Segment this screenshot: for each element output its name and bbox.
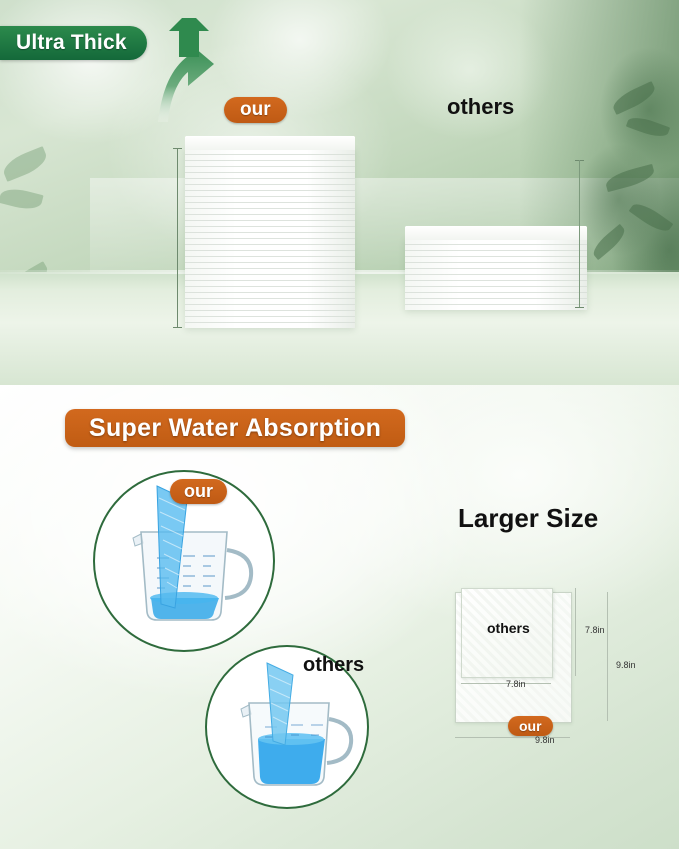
dimension-others-height: 7.8in: [585, 625, 605, 635]
section-title-label: Super Water Absorption: [89, 414, 381, 443]
our-label: our: [184, 481, 213, 502]
leaf-icon: [589, 224, 629, 260]
dimension-our-width: 9.8in: [535, 735, 555, 745]
others-size-label: others: [487, 620, 530, 636]
our-label: our: [240, 99, 271, 121]
towel-stack-our: [185, 136, 355, 328]
stack-top-face: [185, 136, 355, 150]
super-water-absorption-banner: Super Water Absorption: [65, 409, 405, 447]
dimension-our-height: 9.8in: [616, 660, 636, 670]
leaf-icon: [629, 199, 674, 237]
ultra-thick-panel: Ultra Thick our others: [0, 0, 679, 385]
stack-top-face: [405, 226, 587, 240]
up-arrow-icon: [136, 18, 226, 128]
our-badge-absorption: our: [170, 479, 227, 504]
dimension-line-our-height: [607, 592, 608, 721]
height-measure-our: [173, 148, 182, 328]
others-label-top: others: [447, 94, 514, 120]
ultra-thick-badge: Ultra Thick: [0, 26, 147, 60]
our-badge-top: our: [224, 97, 287, 123]
stack-layers: [405, 238, 587, 310]
leaf-icon: [0, 146, 50, 182]
product-infographic: Ultra Thick our others Super Water Absor…: [0, 0, 679, 849]
leaf-icon: [610, 81, 658, 115]
dimension-others-width: 7.8in: [506, 679, 526, 689]
leaf-icon: [626, 113, 670, 141]
towel-stack-others: [405, 226, 587, 310]
our-label: our: [519, 718, 542, 734]
dimension-line-others-height: [575, 588, 576, 676]
leaf-icon: [604, 164, 656, 192]
leaf-icon: [0, 185, 44, 213]
ultra-thick-label: Ultra Thick: [16, 31, 127, 55]
stack-layers: [185, 148, 355, 328]
others-label-absorption: others: [303, 654, 364, 677]
our-size-badge: our: [508, 716, 553, 736]
larger-size-title: Larger Size: [458, 503, 598, 534]
height-measure-others: [575, 160, 584, 308]
